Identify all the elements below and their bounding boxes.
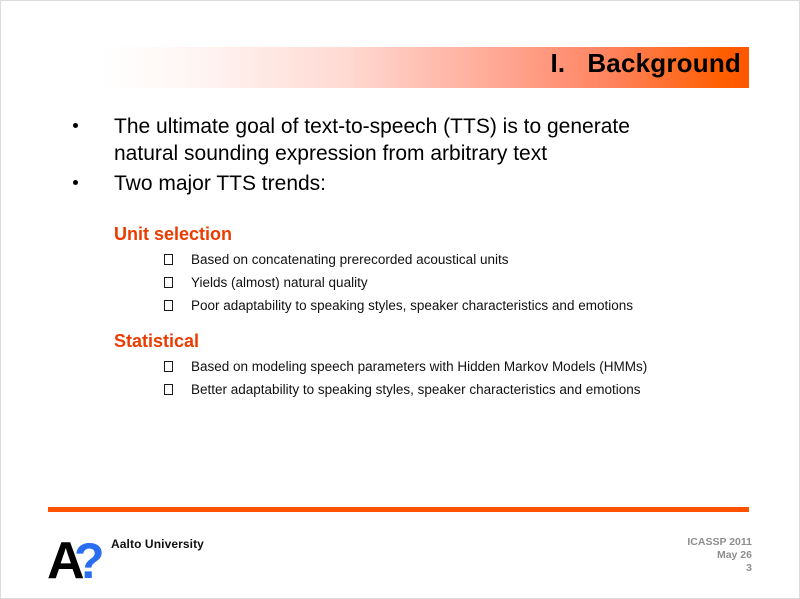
- presentation-date: May 26: [687, 549, 752, 562]
- square-bullet-icon: [164, 300, 173, 311]
- title-label: Background: [587, 48, 741, 78]
- sub-bullet-text: Based on modeling speech parameters with…: [191, 358, 669, 375]
- aalto-logo-icon: A ?: [48, 532, 106, 584]
- page-title: I.Background: [550, 48, 741, 79]
- bullet-item: The ultimate goal of text-to-speech (TTS…: [1, 113, 800, 167]
- footer-meta: ICASSP 2011 May 26 3: [687, 536, 752, 575]
- sub-bullet-item: Based on modeling speech parameters with…: [1, 358, 800, 375]
- sub-bullet-text: Better adaptability to speaking styles, …: [191, 381, 669, 398]
- slide: I.Background The ultimate goal of text-t…: [0, 0, 800, 599]
- bullet-dot-icon: [73, 123, 78, 128]
- sub-bullet-text: Based on concatenating prerecorded acous…: [191, 251, 669, 268]
- bullet-item: Two major TTS trends:: [1, 170, 800, 197]
- footer-divider: [48, 507, 749, 512]
- square-bullet-icon: [164, 384, 173, 395]
- section-heading-unit-selection: Unit selection: [114, 223, 800, 245]
- bullet-dot-icon: [73, 180, 78, 185]
- bullet-text: Two major TTS trends:: [114, 170, 684, 197]
- title-numeral: I.: [550, 48, 565, 79]
- sub-bullet-item: Better adaptability to speaking styles, …: [1, 381, 800, 398]
- square-bullet-icon: [164, 361, 173, 372]
- bullet-text: The ultimate goal of text-to-speech (TTS…: [114, 113, 684, 167]
- sub-bullet-item: Based on concatenating prerecorded acous…: [1, 251, 800, 268]
- sub-bullet-text: Yields (almost) natural quality: [191, 274, 669, 291]
- section-heading-statistical: Statistical: [114, 330, 800, 352]
- sub-bullet-item: Yields (almost) natural quality: [1, 274, 800, 291]
- organization-name: Aalto University: [111, 537, 204, 551]
- sub-bullet-item: Poor adaptability to speaking styles, sp…: [1, 297, 800, 314]
- conference-name: ICASSP 2011: [687, 536, 752, 549]
- sub-bullet-text: Poor adaptability to speaking styles, sp…: [191, 297, 669, 314]
- svg-text:?: ?: [74, 533, 105, 584]
- square-bullet-icon: [164, 277, 173, 288]
- square-bullet-icon: [164, 254, 173, 265]
- slide-body: The ultimate goal of text-to-speech (TTS…: [1, 113, 800, 398]
- page-number: 3: [687, 562, 752, 575]
